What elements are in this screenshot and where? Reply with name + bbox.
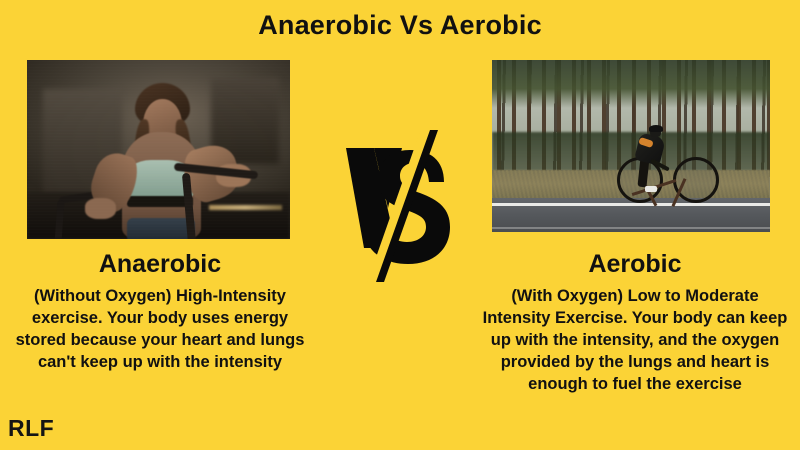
anaerobic-photo	[27, 60, 290, 239]
road-edge-line	[492, 203, 770, 206]
lightning-slash-icon	[340, 130, 460, 282]
aerobic-column: Aerobic (With Oxygen) Low to Moderate In…	[470, 250, 800, 396]
brand-watermark: RLF	[8, 415, 54, 442]
forest-road-scene	[492, 60, 770, 232]
gym-scene	[27, 60, 290, 239]
tree-canopy	[492, 60, 770, 108]
versus-badge	[340, 130, 460, 282]
bicycle-front-wheel	[673, 157, 719, 203]
anaerobic-column: Anaerobic (Without Oxygen) High-Intensit…	[0, 250, 320, 374]
aerobic-photo	[492, 60, 770, 232]
cyclist-shoe	[645, 186, 657, 192]
aerobic-description: (With Oxygen) Low to Moderate Intensity …	[470, 286, 800, 396]
cyclist-helmet	[649, 125, 663, 132]
aerobic-heading: Aerobic	[470, 250, 800, 279]
page-title: Anaerobic Vs Aerobic	[0, 10, 800, 41]
anaerobic-heading: Anaerobic	[0, 250, 320, 279]
anaerobic-description: (Without Oxygen) High-Intensity exercise…	[0, 286, 320, 374]
road-lane-line	[492, 227, 770, 229]
infographic-stage: Anaerobic Vs Aerobic	[0, 0, 800, 450]
photo-grain-overlay	[27, 60, 290, 239]
